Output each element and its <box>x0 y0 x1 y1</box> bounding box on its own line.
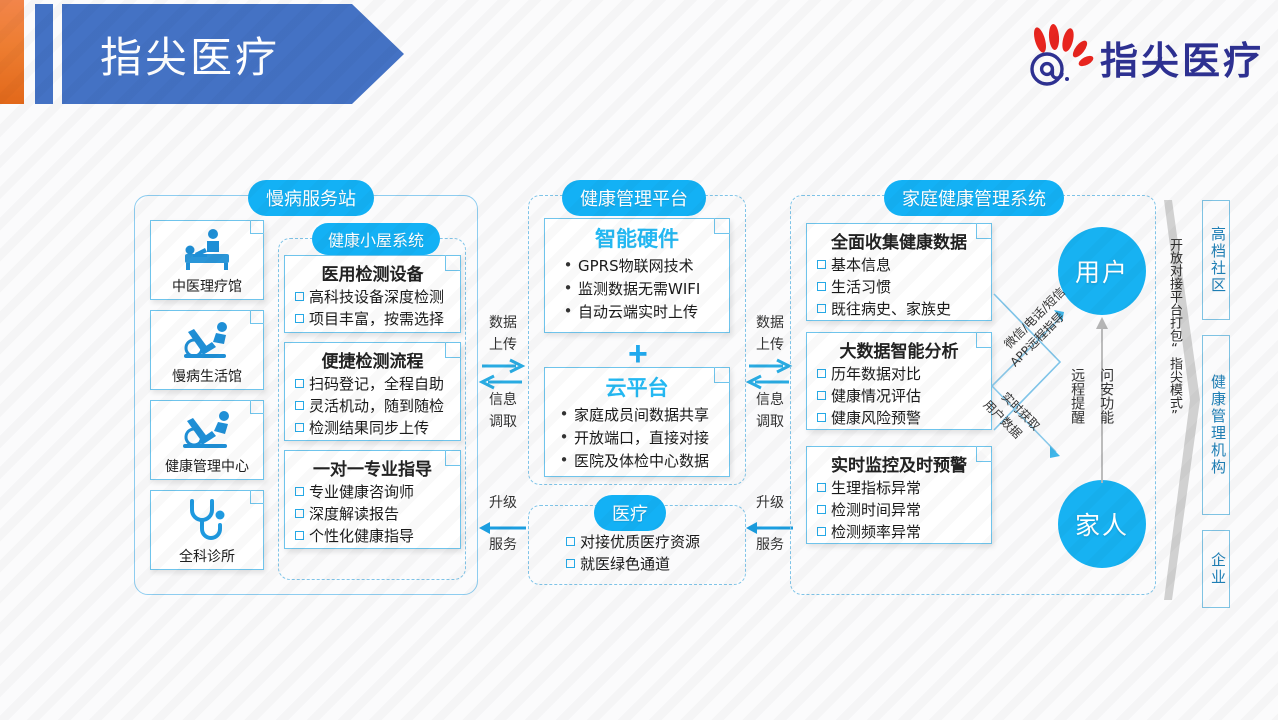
page-title: 指尖医疗 <box>100 24 280 85</box>
list-item: 历年数据对比 <box>817 364 983 386</box>
checkbox-icon <box>817 369 826 378</box>
list-item: 既往病史、家族史 <box>817 299 983 321</box>
connector-right-upgrade-arrow <box>745 522 795 536</box>
circle-label: 家人 <box>1075 506 1129 542</box>
tile-chronic-life[interactable]: 慢病生活馆 <box>150 310 264 390</box>
card-items: 专业健康咨询师 深度解读报告 个性化健康指导 <box>285 482 460 553</box>
connector-left-upload-bottom: 上传 <box>486 337 520 354</box>
list-item: 家庭成员间数据共享 <box>559 404 721 427</box>
card-title: 实时监控及时预警 <box>807 447 991 478</box>
checkbox-icon <box>817 282 826 291</box>
health-hut-title: 健康小屋系统 <box>312 223 440 255</box>
list-item: 生活习惯 <box>817 277 983 299</box>
connector-right-upload-top: 数据 <box>753 315 787 332</box>
card-cloud-platform: 云平台 家庭成员间数据共享 开放端口，直接对接 医院及体检中心数据 <box>544 367 730 477</box>
connector-left-upload-top: 数据 <box>486 315 520 332</box>
plus-icon: + <box>628 337 648 371</box>
card-realtime-monitor: 实时监控及时预警 生理指标异常 检测时间异常 检测频率异常 <box>806 446 992 544</box>
checkbox-icon <box>817 505 826 514</box>
checkbox-icon <box>295 423 304 432</box>
bullet-icon <box>563 301 573 310</box>
list-item: 健康情况评估 <box>817 386 983 408</box>
list-item: 对接优质医疗资源 <box>566 532 700 554</box>
connector-left-upgrade-bottom: 服务 <box>486 537 520 554</box>
orange-accent-bar <box>0 0 24 104</box>
card-title: 智能硬件 <box>545 219 729 255</box>
card-items: 历年数据对比 健康情况评估 健康风险预警 <box>807 364 991 435</box>
massage-therapy-icon <box>151 226 263 274</box>
checkbox-icon <box>566 537 575 546</box>
list-item: 专业健康咨询师 <box>295 482 452 504</box>
card-items: 生理指标异常 检测时间异常 检测频率异常 <box>807 478 991 549</box>
list-item: 深度解读报告 <box>295 504 452 526</box>
tile-label: 中医理疗馆 <box>151 276 263 296</box>
card-collect-health-data: 全面收集健康数据 基本信息 生活习惯 既往病史、家族史 <box>806 223 992 321</box>
checkbox-icon <box>817 527 826 536</box>
tile-chinese-medicine[interactable]: 中医理疗馆 <box>150 220 264 300</box>
card-big-data-analysis: 大数据智能分析 历年数据对比 健康情况评估 健康风险预警 <box>806 332 992 430</box>
right-panel-title: 家庭健康管理系统 <box>884 180 1064 216</box>
connector-left-fetch-top: 信息 <box>486 392 520 409</box>
tile-clinic[interactable]: 全科诊所 <box>150 490 264 570</box>
checkbox-icon <box>295 509 304 518</box>
medical-items: 对接优质医疗资源 就医绿色通道 <box>556 532 708 582</box>
card-items: GPRS物联网技术 监测数据无需WIFI 自动云端实时上传 <box>545 255 729 329</box>
card-items: 高科技设备深度检测 项目丰富，按需选择 <box>285 287 460 337</box>
bullet-icon <box>563 278 573 287</box>
list-item: 医院及体检中心数据 <box>559 450 721 473</box>
open-platform-banner-text: 开放对接平台打包“指尖模式” <box>1166 238 1181 424</box>
connector-left-fetch-bottom: 调取 <box>486 414 520 431</box>
checkbox-icon <box>817 304 826 313</box>
logo-text: 指尖医疗 <box>1100 30 1264 85</box>
card-title: 全面收集健康数据 <box>807 224 991 255</box>
connector-left-upgrade-top: 升级 <box>486 495 520 512</box>
connector-right-fetch-top: 信息 <box>753 392 787 409</box>
connector-right-upload-bottom: 上传 <box>753 337 787 354</box>
recumbent-bike-icon <box>151 406 263 454</box>
list-item: 健康风险预警 <box>817 408 983 430</box>
exercise-bike-icon <box>151 316 263 364</box>
connector-right-upgrade-top: 升级 <box>753 495 787 512</box>
bullet-icon <box>563 255 573 264</box>
brand-logo: 指尖医疗 <box>1022 22 1264 92</box>
checkbox-icon <box>295 379 304 388</box>
connector-right-fetch-bottom: 调取 <box>753 414 787 431</box>
title-banner-arrow <box>352 4 404 104</box>
checkbox-icon <box>817 260 826 269</box>
checkbox-icon <box>817 391 826 400</box>
card-items: 基本信息 生活习惯 既往病史、家族史 <box>807 255 991 326</box>
bullet-icon <box>559 404 569 413</box>
card-title: 云平台 <box>545 368 729 404</box>
checkbox-icon <box>295 292 304 301</box>
list-item: 检测频率异常 <box>817 522 983 544</box>
label-remote-remind: 远程提醒 <box>1069 368 1085 424</box>
checkbox-icon <box>817 413 826 422</box>
left-panel-title: 慢病服务站 <box>248 180 374 216</box>
checkbox-icon <box>817 483 826 492</box>
list-item: 自动云端实时上传 <box>563 301 721 324</box>
tile-label: 全科诊所 <box>151 546 263 566</box>
medical-title: 医疗 <box>594 495 666 531</box>
bullet-icon <box>559 427 569 436</box>
diagram-canvas: 慢病服务站 中医理疗馆 <box>0 110 1278 720</box>
list-item: 高科技设备深度检测 <box>295 287 452 309</box>
card-medical-equipment: 医用检测设备 高科技设备深度检测 项目丰富，按需选择 <box>284 255 461 333</box>
center-panel-title: 健康管理平台 <box>562 180 706 216</box>
list-item: 就医绿色通道 <box>566 554 700 576</box>
checkbox-icon <box>295 487 304 496</box>
blue-accent-bar <box>35 4 53 104</box>
card-title: 一对一专业指导 <box>285 451 460 482</box>
list-item: GPRS物联网技术 <box>563 255 721 278</box>
list-item: 检测时间异常 <box>817 500 983 522</box>
card-one-on-one: 一对一专业指导 专业健康咨询师 深度解读报告 个性化健康指导 <box>284 450 461 549</box>
vbox-health-org: 健康管理机构 <box>1202 335 1230 515</box>
list-item: 个性化健康指导 <box>295 526 452 548</box>
list-item: 灵活机动，随到随检 <box>295 396 452 418</box>
list-item: 开放端口，直接对接 <box>559 427 721 450</box>
tile-health-center[interactable]: 健康管理中心 <box>150 400 264 480</box>
list-item: 检测结果同步上传 <box>295 418 452 440</box>
tile-label: 健康管理中心 <box>151 456 263 476</box>
list-item: 项目丰富，按需选择 <box>295 309 452 331</box>
checkbox-icon <box>566 559 575 568</box>
card-detection-flow: 便捷检测流程 扫码登记，全程自助 灵活机动，随到随检 检测结果同步上传 <box>284 342 461 441</box>
vbox-enterprise: 企业 <box>1202 530 1230 608</box>
bullet-icon <box>559 450 569 459</box>
card-items: 家庭成员间数据共享 开放端口，直接对接 医院及体检中心数据 <box>545 404 729 478</box>
card-title: 大数据智能分析 <box>807 333 991 364</box>
card-title: 医用检测设备 <box>285 256 460 287</box>
checkbox-icon <box>295 401 304 410</box>
page-header: 指尖医疗 指尖医疗 <box>0 0 1278 110</box>
card-smart-hardware: 智能硬件 GPRS物联网技术 监测数据无需WIFI 自动云端实时上传 <box>544 218 730 333</box>
stethoscope-icon <box>151 496 263 544</box>
checkbox-icon <box>295 314 304 323</box>
tile-label: 慢病生活馆 <box>151 366 263 386</box>
at-flame-icon <box>1022 24 1100 90</box>
vbox-community: 高档社区 <box>1202 200 1230 320</box>
checkbox-icon <box>295 531 304 540</box>
circle-label: 用户 <box>1075 253 1129 289</box>
list-item: 监测数据无需WIFI <box>563 278 721 301</box>
card-title: 便捷检测流程 <box>285 343 460 374</box>
connector-left-upgrade-arrow <box>478 522 528 536</box>
list-item: 生理指标异常 <box>817 478 983 500</box>
list-item: 扫码登记，全程自助 <box>295 374 452 396</box>
label-greeting-function: 问安功能 <box>1098 368 1114 424</box>
connector-right-upgrade-bottom: 服务 <box>753 537 787 554</box>
list-item: 基本信息 <box>817 255 983 277</box>
card-items: 扫码登记，全程自助 灵活机动，随到随检 检测结果同步上传 <box>285 374 460 445</box>
